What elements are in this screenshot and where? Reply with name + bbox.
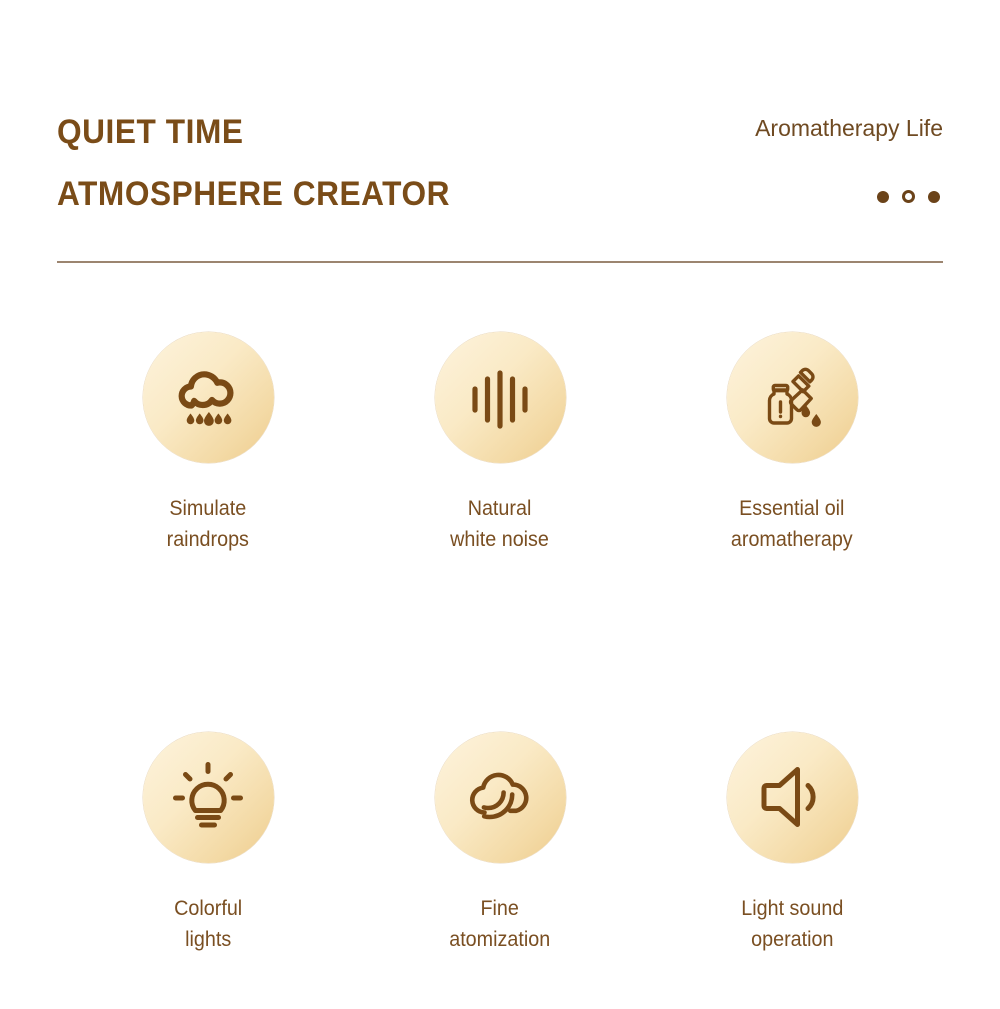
feature-label-line-2: atomization <box>450 925 551 956</box>
feature-label: Colorful lights <box>174 894 242 956</box>
feature-icon-badge <box>143 732 274 863</box>
carousel-dot-1-active-icon[interactable] <box>877 191 889 203</box>
eyebrow-text: Aromatherapy Life <box>755 117 943 140</box>
speaker-volume-icon <box>749 754 835 840</box>
feature-label-line-2: lights <box>174 925 242 956</box>
feature-item-natural-white-noise[interactable]: Natural white noise <box>354 332 646 556</box>
carousel-dot-2-inactive-icon[interactable] <box>902 190 915 203</box>
feature-label: Fine atomization <box>450 894 551 956</box>
feature-icon-badge <box>727 732 858 863</box>
feature-label-line-1: Simulate <box>167 494 249 525</box>
rain-cloud-icon <box>165 355 251 441</box>
feature-label-line-1: Natural <box>451 494 550 525</box>
feature-label-line-2: aromatherapy <box>731 525 853 556</box>
sound-wave-icon <box>457 355 543 441</box>
feature-icon-badge <box>143 332 274 463</box>
feature-label: Natural white noise <box>451 494 550 556</box>
title-line-1: QUIET TIME <box>57 115 450 149</box>
carousel-dot-3-active-icon[interactable] <box>928 191 940 203</box>
header-right-block: Aromatherapy Life <box>755 96 943 203</box>
lightbulb-icon <box>165 754 251 840</box>
feature-item-light-sound-operation[interactable]: Light sound operation <box>646 732 938 956</box>
feature-label: Light sound operation <box>741 894 843 956</box>
oil-dropper-bottle-icon <box>749 355 835 441</box>
feature-item-essential-oil-aromatherapy[interactable]: Essential oil aromatherapy <box>646 332 938 556</box>
feature-label-line-1: Light sound <box>741 894 843 925</box>
feature-item-colorful-lights[interactable]: Colorful lights <box>62 732 354 956</box>
feature-row-1: Simulate raindrops <box>57 332 943 556</box>
header-divider <box>57 261 943 263</box>
feature-label-line-1: Essential oil <box>731 494 853 525</box>
feature-icon-badge <box>435 332 566 463</box>
feature-label-line-2: raindrops <box>167 525 249 556</box>
title-line-2: ATMOSPHERE CREATOR <box>57 177 450 211</box>
carousel-dots[interactable] <box>755 190 943 203</box>
raindrops-group <box>187 412 232 426</box>
feature-label: Essential oil aromatherapy <box>731 494 853 556</box>
product-feature-banner: QUIET TIME ATMOSPHERE CREATOR Aromathera… <box>0 0 1000 1009</box>
feature-label: Simulate raindrops <box>167 494 249 556</box>
feature-grid: Simulate raindrops <box>57 332 943 955</box>
feature-icon-badge <box>727 332 858 463</box>
feature-label-line-1: Colorful <box>174 894 242 925</box>
feature-row-2: Colorful lights <box>57 732 943 956</box>
feature-item-fine-atomization[interactable]: Fine atomization <box>354 732 646 956</box>
banner-header: QUIET TIME ATMOSPHERE CREATOR Aromathera… <box>57 96 943 236</box>
feature-item-simulate-raindrops[interactable]: Simulate raindrops <box>62 332 354 556</box>
oil-droplets-group <box>802 405 821 427</box>
feature-label-line-2: white noise <box>451 525 550 556</box>
feature-label-line-1: Fine <box>450 894 551 925</box>
feature-label-line-2: operation <box>741 925 843 956</box>
mist-cloud-icon <box>457 754 543 840</box>
page-title: QUIET TIME ATMOSPHERE CREATOR <box>57 96 480 211</box>
feature-icon-badge <box>435 732 566 863</box>
